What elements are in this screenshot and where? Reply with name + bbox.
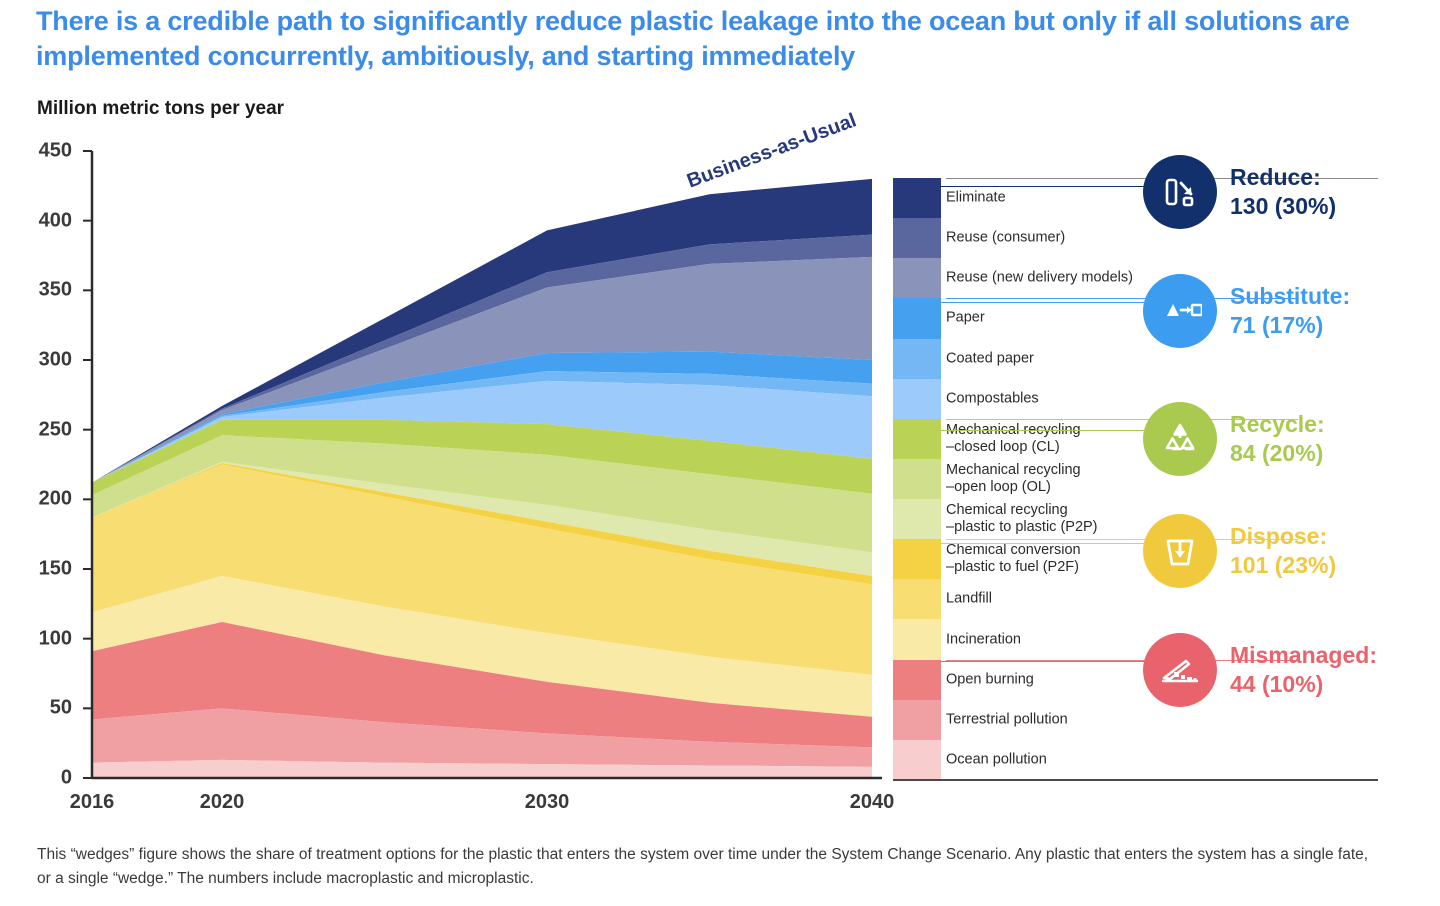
leader-line-recycle	[940, 430, 1145, 431]
y-tick-label: 150	[12, 558, 72, 581]
legend-swatch	[893, 459, 941, 500]
legend-item-label: Chemical recycling –plastic to plastic (…	[946, 502, 1098, 536]
legend-swatch	[893, 660, 941, 701]
legend-item-label: Landfill	[946, 591, 992, 608]
substitute-shapes-icon	[1143, 274, 1217, 348]
legend-swatch	[893, 339, 941, 380]
legend-item-label: Eliminate	[946, 190, 1006, 207]
y-tick-label: 0	[12, 767, 72, 790]
leader-line-reduce	[940, 186, 1145, 187]
chart-legend: EliminateReuse (consumer)Reuse (new deli…	[888, 178, 1148, 780]
group-label-reduce: Reduce: 130 (30%)	[1230, 163, 1336, 221]
group-label-recycle: Recycle: 84 (20%)	[1230, 410, 1325, 468]
legend-swatch	[893, 379, 941, 420]
x-tick-label: 2016	[70, 791, 115, 814]
legend-item-label: Open burning	[946, 671, 1034, 688]
legend-item-label: Ocean pollution	[946, 751, 1047, 768]
legend-swatch	[893, 218, 941, 259]
y-tick-label: 50	[12, 697, 72, 720]
legend-item-label: Compostables	[946, 390, 1039, 407]
group-label-substitute: Substitute: 71 (17%)	[1230, 282, 1350, 340]
group-label-mismanaged: Mismanaged: 44 (10%)	[1230, 641, 1377, 699]
legend-item-label: Mechanical recycling –open loop (OL)	[946, 462, 1081, 496]
recycle-loop-icon	[1143, 402, 1217, 476]
legend-swatch	[893, 419, 941, 460]
y-tick-label: 200	[12, 488, 72, 511]
legend-item-label: Mechanical recycling –closed loop (CL)	[946, 422, 1081, 456]
legend-item-label: Reuse (new delivery models)	[946, 270, 1133, 287]
leader-line-substitute	[940, 302, 1145, 303]
legend-item-label: Chemical conversion –plastic to fuel (P2…	[946, 542, 1081, 576]
x-tick-label: 2040	[850, 791, 895, 814]
y-tick-label: 250	[12, 418, 72, 441]
leader-line-dispose	[940, 543, 1145, 544]
legend-swatch	[893, 700, 941, 741]
legend-item-label: Coated paper	[946, 350, 1034, 367]
group-callout-recycle: Recycle: 84 (20%)	[1143, 402, 1325, 476]
footnote: This “wedges” figure shows the share of …	[37, 843, 1385, 891]
legend-item-label: Incineration	[946, 631, 1021, 648]
leader-line-mismanaged	[940, 661, 1145, 662]
legend-bottom-rule	[893, 779, 1378, 781]
y-tick-label: 100	[12, 627, 72, 650]
mismanaged-dump-icon	[1143, 633, 1217, 707]
legend-swatch	[893, 178, 941, 219]
y-tick-label: 450	[12, 140, 72, 163]
group-callout-substitute: Substitute: 71 (17%)	[1143, 274, 1350, 348]
legend-swatch	[893, 499, 941, 540]
dispose-bin-icon	[1143, 514, 1217, 588]
legend-swatch	[893, 740, 941, 781]
group-callout-mismanaged: Mismanaged: 44 (10%)	[1143, 633, 1377, 707]
y-tick-label: 350	[12, 279, 72, 302]
legend-swatch	[893, 258, 941, 299]
legend-item-label: Paper	[946, 310, 985, 327]
y-tick-label: 400	[12, 209, 72, 232]
y-tick-label: 300	[12, 349, 72, 372]
area-series-group	[92, 179, 872, 778]
legend-item-label: Reuse (consumer)	[946, 230, 1065, 247]
legend-swatch	[893, 579, 941, 620]
group-label-dispose: Dispose: 101 (23%)	[1230, 522, 1336, 580]
legend-swatch	[893, 539, 941, 580]
x-tick-label: 2020	[200, 791, 245, 814]
x-tick-label: 2030	[525, 791, 570, 814]
reduce-bar-arrow-icon	[1143, 155, 1217, 229]
legend-swatch	[893, 619, 941, 660]
legend-swatch-column	[893, 178, 941, 780]
group-callout-reduce: Reduce: 130 (30%)	[1143, 155, 1336, 229]
legend-swatch	[893, 298, 941, 339]
legend-item-label: Terrestrial pollution	[946, 711, 1068, 728]
group-callout-dispose: Dispose: 101 (23%)	[1143, 514, 1336, 588]
